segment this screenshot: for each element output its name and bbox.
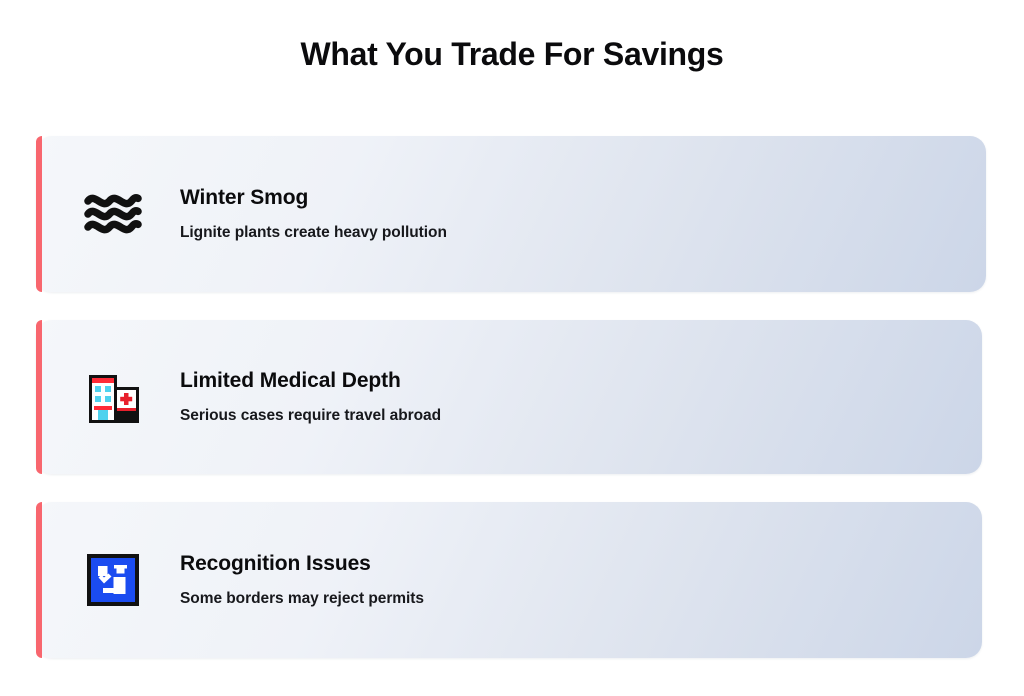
hospital-icon (82, 366, 144, 428)
accent-bar (36, 136, 42, 292)
passport-control-icon (82, 549, 144, 611)
card-subtitle: Lignite plants create heavy pollution (180, 223, 447, 243)
card-list: Winter Smog Lignite plants create heavy … (36, 136, 986, 658)
card-title: Recognition Issues (180, 551, 424, 577)
card-title: Limited Medical Depth (180, 368, 441, 394)
fog-smog-icon (82, 183, 144, 245)
card-subtitle: Serious cases require travel abroad (180, 406, 441, 426)
card-text: Limited Medical Depth Serious cases requ… (180, 368, 441, 426)
list-item[interactable]: Winter Smog Lignite plants create heavy … (36, 136, 986, 292)
accent-bar (36, 320, 42, 474)
card-subtitle: Some borders may reject permits (180, 589, 424, 609)
card-text: Recognition Issues Some borders may reje… (180, 551, 424, 609)
card-title: Winter Smog (180, 185, 447, 211)
list-item[interactable]: Recognition Issues Some borders may reje… (36, 502, 982, 658)
accent-bar (36, 502, 42, 658)
list-item[interactable]: Limited Medical Depth Serious cases requ… (36, 320, 982, 474)
slide-root: What You Trade For Savings Winter Smog L… (0, 0, 1024, 696)
page-title: What You Trade For Savings (0, 33, 1024, 75)
card-text: Winter Smog Lignite plants create heavy … (180, 185, 447, 243)
